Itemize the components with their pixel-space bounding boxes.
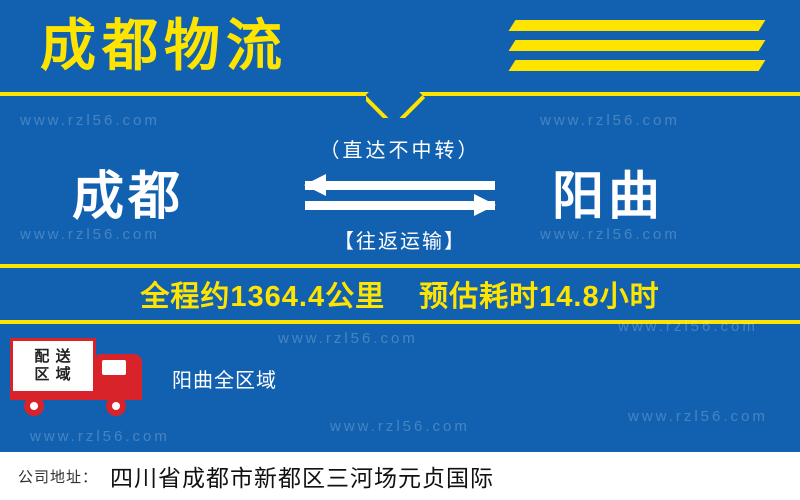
stat-duration: 预估耗时14.8小时 [419,273,659,315]
arrow-left-icon [305,181,495,190]
chevron-stripe [509,20,766,31]
page-title: 成都物流 [40,6,288,86]
stats-bar: 全程约1364.4公里 预估耗时14.8小时 [0,268,800,320]
arrow-right-icon [305,201,495,210]
truck-cargo-box: 配 送 区 域 [10,338,96,394]
footer-bar: 公司地址： 四川省成都市新都区三河场元贞国际 [0,452,800,500]
bidirectional-arrows-icon [305,177,495,219]
banner-header: 成都物流 [0,0,800,92]
coverage-area-label: 阳曲全区域 [172,364,277,393]
truck-box-label-line2: 区 域 [34,366,71,384]
stat-distance: 全程约1364.4公里 [140,273,385,315]
logistics-banner: 成都物流 成都 阳曲 （直达不中转） 【往返运输】 全程约1364.4公里 预估… [0,0,800,500]
truck-box-label-line1: 配 送 [34,348,71,366]
truck-window [102,360,126,375]
route-section: 成都 阳曲 （直达不中转） 【往返运输】 [0,96,800,264]
chevron-stripe [509,60,766,71]
origin-city: 成都 [72,154,184,229]
chevron-stripes-decoration [442,14,772,76]
chevron-stripe [509,40,766,51]
route-tag: 【往返运输】 [275,225,525,254]
route-note: （直达不中转） [275,134,525,163]
destination-city: 阳曲 [552,154,664,229]
delivery-truck-icon: 配 送 区 域 [10,338,162,414]
truck-box-label: 配 送 区 域 [13,341,93,391]
company-address-value: 四川省成都市新都区三河场元贞国际 [110,459,494,493]
truck-wheel [24,396,44,416]
coverage-section: 配 送 区 域 阳曲全区域 [0,324,800,454]
company-address-label: 公司地址： [18,466,98,487]
truck-wheel [106,396,126,416]
route-middle: （直达不中转） 【往返运输】 [275,134,525,254]
